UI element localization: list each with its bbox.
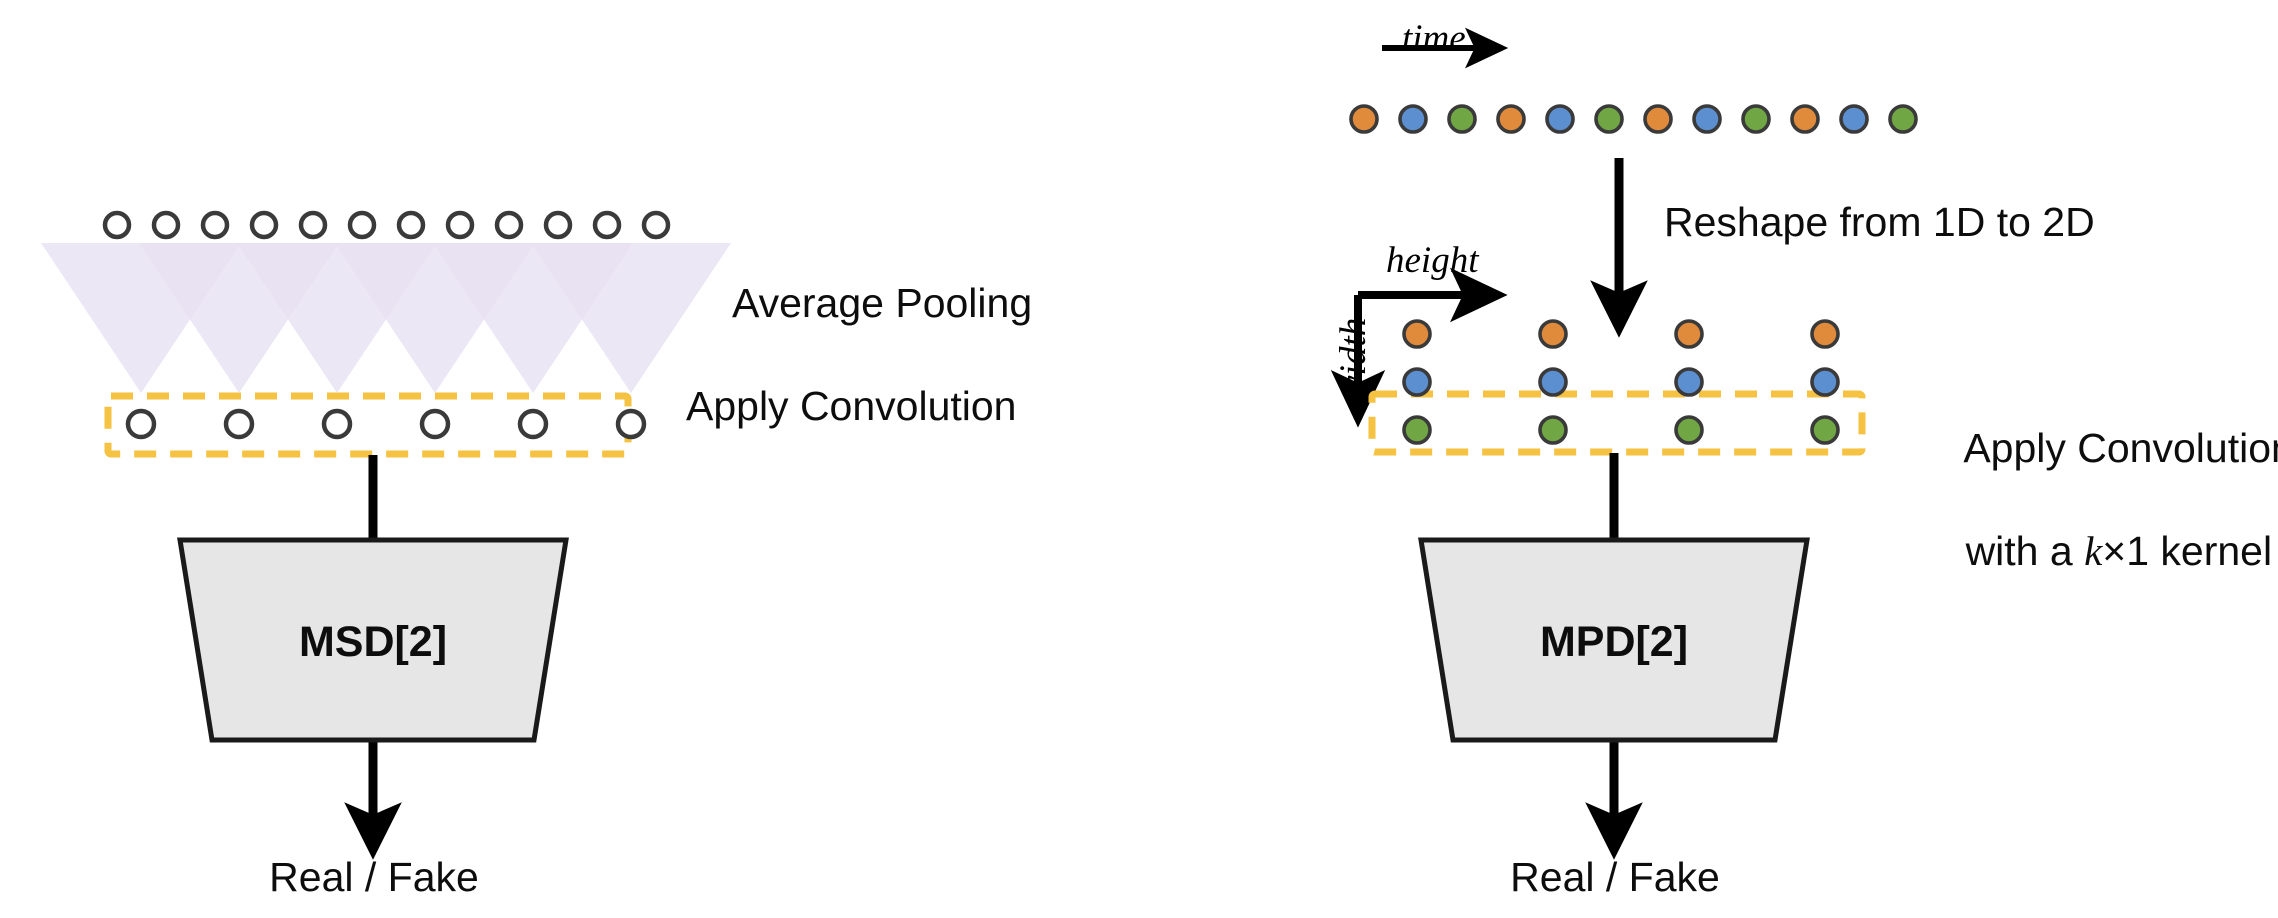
grid-dot-green: [1540, 417, 1566, 443]
pooling-triangle: [237, 243, 437, 393]
sequence-dot-green: [1743, 106, 1769, 132]
pooling-triangle: [335, 243, 535, 393]
grid-dot-orange: [1676, 321, 1702, 347]
average-pooling-triangles: [41, 243, 731, 393]
pooling-triangle: [531, 243, 731, 393]
grid-dot-orange: [1540, 321, 1566, 347]
sequence-dot-orange: [1645, 106, 1671, 132]
msd-pooled-node: [618, 411, 644, 437]
msd-pooled-node: [422, 411, 448, 437]
msd-input-node: [154, 213, 178, 237]
msd-input-node: [546, 213, 570, 237]
msd-input-node: [105, 213, 129, 237]
msd-input-node: [350, 213, 374, 237]
grid-dot-orange: [1404, 321, 1430, 347]
mpd-block-label: MPD[2]: [1424, 618, 1804, 667]
sequence-dot-green: [1890, 106, 1916, 132]
msd-input-node: [252, 213, 276, 237]
msd-input-node: [399, 213, 423, 237]
msd-pooled-node: [226, 411, 252, 437]
msd-input-node: [448, 213, 472, 237]
msd-input-sample-row: [105, 213, 668, 237]
grid-dot-blue: [1676, 369, 1702, 395]
label-reshape: Reshape from 1D to 2D: [1664, 197, 2095, 248]
label-apply-convolution-right: Apply Convolution with a k×1 kernel: [1920, 372, 2278, 628]
sequence-dot-blue: [1694, 106, 1720, 132]
sequence-dot-green: [1449, 106, 1475, 132]
label-apply-convolution-left: Apply Convolution: [686, 381, 1016, 432]
msd-input-node: [497, 213, 521, 237]
msd-input-node: [301, 213, 325, 237]
conv-kernel-k: k: [2084, 528, 2102, 574]
mpd-input-sequence-row: [1351, 106, 1916, 132]
pooling-triangle: [41, 243, 241, 393]
grid-dot-blue: [1404, 369, 1430, 395]
sequence-dot-orange: [1351, 106, 1377, 132]
msd-pooled-node: [520, 411, 546, 437]
sequence-dot-blue: [1841, 106, 1867, 132]
grid-dot-green: [1812, 417, 1838, 443]
sequence-dot-blue: [1400, 106, 1426, 132]
conv-line-1: Apply Convolution: [1963, 425, 2278, 471]
sequence-dot-green: [1596, 106, 1622, 132]
grid-dot-blue: [1812, 369, 1838, 395]
msd-input-node: [644, 213, 668, 237]
sequence-dot-orange: [1498, 106, 1524, 132]
grid-dot-green: [1676, 417, 1702, 443]
label-average-pooling: Average Pooling: [732, 278, 1032, 329]
dashed-conv-region-right: [1372, 394, 1862, 452]
pooling-triangle: [139, 243, 339, 393]
conv-line-2-pre: with a: [1966, 528, 2085, 574]
msd-pooled-node: [128, 411, 154, 437]
msd-output-label: Real / Fake: [249, 852, 499, 903]
grid-dot-blue: [1540, 369, 1566, 395]
diagram-canvas: Average Pooling Apply Convolution MSD[2]…: [0, 0, 2278, 918]
label-height-axis: height: [1386, 238, 1478, 284]
sequence-dot-orange: [1792, 106, 1818, 132]
grid-dot-green: [1404, 417, 1430, 443]
msd-pooled-sample-row: [128, 411, 644, 437]
mpd-2d-grid: [1404, 321, 1838, 443]
left-convolution-dashed-box: [108, 396, 628, 454]
label-width-axis: width: [1332, 318, 1375, 400]
msd-input-node: [595, 213, 619, 237]
mpd-output-label: Real / Fake: [1490, 852, 1740, 903]
conv-line-2-post: ×1 kernel: [2102, 528, 2272, 574]
grid-dot-orange: [1812, 321, 1838, 347]
right-convolution-dashed-box: [1372, 394, 1862, 452]
msd-input-node: [203, 213, 227, 237]
dashed-conv-region-left: [108, 396, 628, 454]
label-time-axis: time: [1402, 16, 1466, 62]
msd-pooled-node: [324, 411, 350, 437]
sequence-dot-blue: [1547, 106, 1573, 132]
pooling-triangle: [433, 243, 633, 393]
msd-block-label: MSD[2]: [183, 618, 563, 667]
